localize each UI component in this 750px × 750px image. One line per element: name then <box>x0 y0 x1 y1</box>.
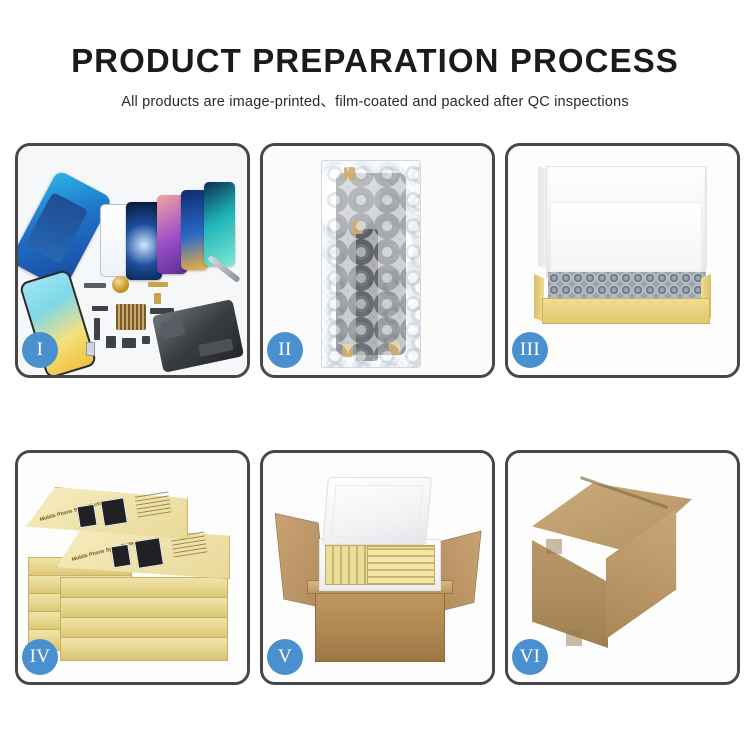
stacked-box-10 <box>60 577 228 599</box>
small-part-3 <box>106 336 116 348</box>
process-step-grid: I II <box>15 143 735 685</box>
small-part-1 <box>84 283 106 288</box>
step-badge-4: IV <box>22 639 58 675</box>
kraft-tray-front <box>542 298 710 324</box>
product-preparation-infographic: PRODUCT PREPARATION PROCESS All products… <box>0 0 750 750</box>
box-window-1 <box>76 504 97 529</box>
stacked-box-11 <box>60 597 228 619</box>
gold-tab-3 <box>342 344 353 357</box>
step-bubble-wrap-photo: II <box>263 146 492 375</box>
step-badge-2: II <box>267 332 303 368</box>
step-badge-5: V <box>267 639 303 675</box>
connector-grid-part <box>116 304 146 330</box>
step-card-2: II <box>260 143 495 378</box>
step-badge-6: VI <box>512 639 548 675</box>
carton-body <box>315 590 445 662</box>
page-subtitle: All products are image-printed、film-coat… <box>0 90 750 111</box>
small-part-6 <box>86 342 95 356</box>
packed-boxes-row-2 <box>367 546 435 584</box>
styrofoam-lid <box>322 477 432 545</box>
vibration-motor-part <box>112 276 129 293</box>
flex-cable-gold-2 <box>154 293 161 304</box>
step-card-1: I <box>15 143 250 378</box>
box-window-3 <box>110 544 131 569</box>
step-sealed-carton-photo: VI <box>508 453 737 682</box>
step-card-6: VI <box>505 450 740 685</box>
stacked-box-13 <box>60 637 228 661</box>
box-window-2 <box>100 497 128 526</box>
stacked-box-12 <box>60 617 228 639</box>
wrapped-flex-ribbon <box>356 229 378 361</box>
step-inner-box-photo: III <box>508 146 737 375</box>
gold-tab-1 <box>344 167 355 180</box>
phone-screen-4 <box>204 182 235 266</box>
step-card-4: Mobile Phone Spare Parts Mobile Phone Sp… <box>15 450 250 685</box>
step-badge-3: III <box>512 332 548 368</box>
small-part-2 <box>92 306 108 311</box>
carton-tape-mark-2 <box>566 630 582 646</box>
bubble-wrap-bag <box>321 160 421 368</box>
gold-tab-4 <box>389 342 400 355</box>
step-box-stack-photo: Mobile Phone Spare Parts Mobile Phone Sp… <box>18 453 247 682</box>
header: PRODUCT PREPARATION PROCESS All products… <box>0 0 750 111</box>
retail-box-stack: Mobile Phone Spare Parts Mobile Phone Sp… <box>24 465 236 677</box>
step-card-5: V <box>260 450 495 685</box>
carton-tape-mark-1 <box>546 539 562 554</box>
flex-cable-1 <box>94 318 100 340</box>
page-title: PRODUCT PREPARATION PROCESS <box>0 44 750 77</box>
step-card-3: III <box>505 143 740 378</box>
small-part-5 <box>142 336 150 344</box>
foam-insert <box>550 202 702 272</box>
gold-tab-2 <box>352 221 363 234</box>
step-badge-1: I <box>22 332 58 368</box>
step-foam-carton-photo: V <box>263 453 492 682</box>
small-part-4 <box>122 338 136 348</box>
flex-cable-gold-1 <box>148 282 168 287</box>
box-window-4 <box>134 537 164 569</box>
step-parts-overview-photo: I <box>18 146 247 375</box>
